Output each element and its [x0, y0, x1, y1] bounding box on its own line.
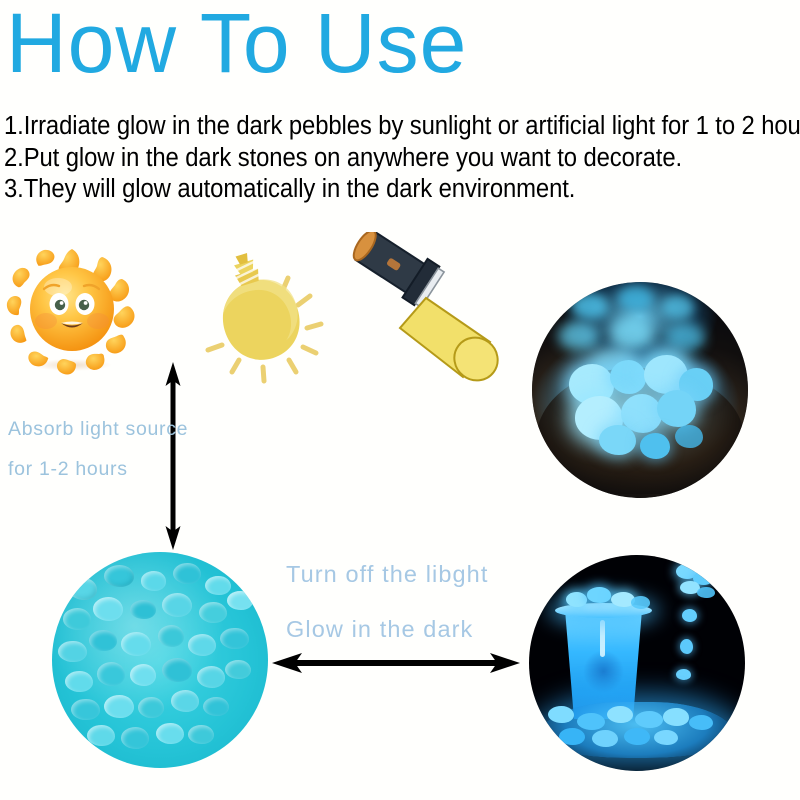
caption-turn-off-the-light: Turn off the libght	[286, 561, 489, 588]
how-to-use-infographic: How To Use 1.Irradiate glow in the dark …	[0, 0, 800, 800]
caption-absorb-light-source: Absorb light source	[8, 418, 188, 441]
caption-absorb-duration: for 1-2 hours	[8, 458, 128, 481]
photo-glowing-cup-with-pebbles	[529, 555, 745, 771]
photo-cyan-pebble-pile	[52, 552, 268, 768]
photo-pebbles-background	[52, 552, 268, 768]
photo-hand-background	[532, 282, 748, 498]
photo-cup-background	[529, 555, 745, 771]
sun-icon	[6, 243, 138, 375]
vertical-double-arrow	[165, 362, 181, 550]
instruction-item-1: 1.Irradiate glow in the dark pebbles by …	[4, 111, 748, 143]
photo-hand-holding-glowing-pebbles	[532, 282, 748, 498]
flashlight-icon	[340, 232, 520, 384]
page-title: How To Use	[6, 0, 467, 93]
light-bulb-icon	[190, 250, 340, 390]
instruction-item-2: 2.Put glow in the dark stones on anywher…	[4, 143, 748, 175]
instruction-item-3: 3.They will glow automatically in the da…	[4, 174, 748, 206]
instruction-list: 1.Irradiate glow in the dark pebbles by …	[4, 111, 800, 206]
caption-glow-in-the-dark: Glow in the dark	[286, 616, 473, 643]
horizontal-double-arrow	[272, 652, 520, 674]
